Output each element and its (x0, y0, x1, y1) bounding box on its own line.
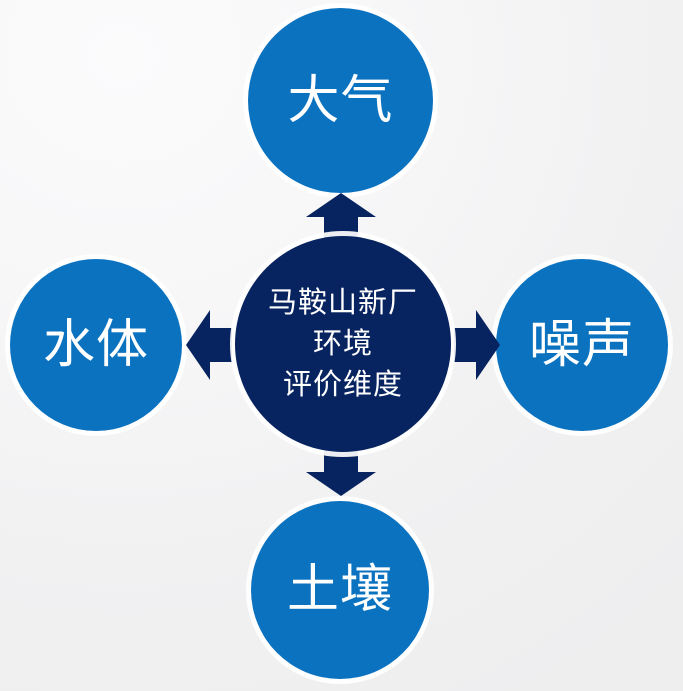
satellite-node-left[interactable]: 水体 (10, 259, 182, 431)
arrow-up-icon (306, 193, 376, 239)
center-hub-label-group: 马鞍山新厂 环境 评价维度 (268, 286, 418, 403)
satellite-node-top[interactable]: 大气 (248, 8, 433, 193)
center-hub-label-line-2: 环境 (313, 327, 373, 361)
satellite-node-bottom[interactable]: 土壤 (251, 501, 429, 679)
center-hub-label-line-1: 马鞍山新厂 (268, 286, 418, 320)
satellite-node-right-label: 噪声 (529, 319, 635, 371)
diagram-canvas: 大气 水体 噪声 土壤 马鞍山新厂 环境 评价维度 (0, 0, 683, 691)
arrow-down-icon (306, 450, 376, 496)
satellite-node-left-label: 水体 (43, 319, 149, 371)
satellite-node-right[interactable]: 噪声 (496, 259, 668, 431)
arrow-right-icon (454, 310, 500, 380)
center-hub-label-line-3: 评价维度 (283, 368, 403, 402)
satellite-node-top-label: 大气 (287, 75, 393, 127)
arrow-left-icon (186, 310, 232, 380)
center-hub-node[interactable]: 马鞍山新厂 环境 评价维度 (235, 236, 451, 452)
satellite-node-bottom-label: 土壤 (287, 564, 393, 616)
